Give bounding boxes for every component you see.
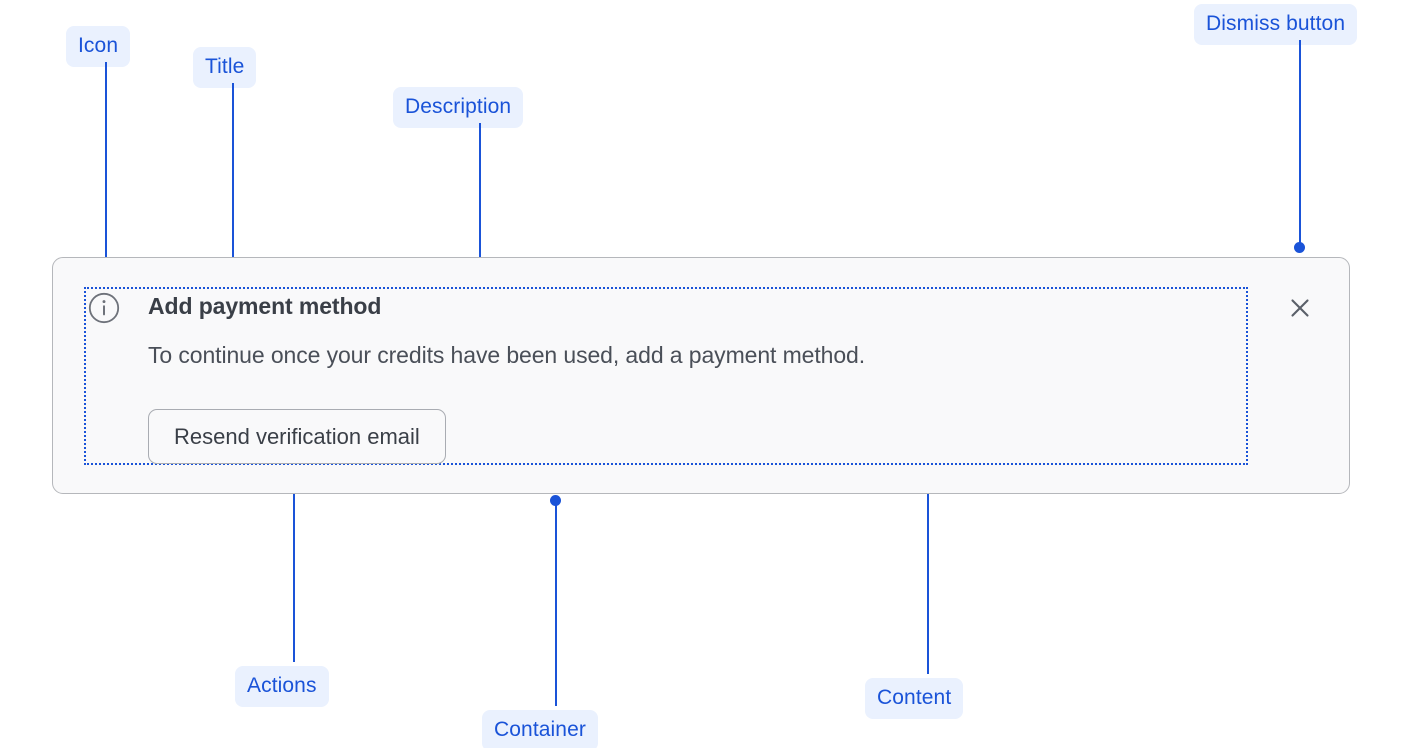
banner-description: To continue once your credits have been … bbox=[148, 342, 865, 369]
annotation-dot-container bbox=[550, 495, 561, 506]
annotation-label-description: Description bbox=[393, 87, 523, 128]
annotation-label-container: Container bbox=[482, 710, 598, 748]
annotation-label-title: Title bbox=[193, 47, 256, 88]
annotation-leader-icon bbox=[105, 62, 107, 271]
annotation-leader-dismiss bbox=[1299, 40, 1301, 248]
dismiss-button[interactable] bbox=[1281, 289, 1319, 327]
annotation-label-dismiss-button: Dismiss button bbox=[1194, 4, 1357, 45]
info-circle-icon bbox=[88, 292, 120, 324]
annotation-leader-content bbox=[927, 465, 929, 674]
annotation-label-icon: Icon bbox=[66, 26, 130, 67]
annotation-label-actions: Actions bbox=[235, 666, 329, 707]
annotation-stage: Icon Title Description Dismiss button Ac… bbox=[0, 0, 1408, 748]
annotation-dot-dismiss bbox=[1294, 242, 1305, 253]
banner-title: Add payment method bbox=[148, 293, 381, 320]
annotation-label-content: Content bbox=[865, 678, 963, 719]
resend-verification-email-button[interactable]: Resend verification email bbox=[148, 409, 446, 464]
annotation-leader-container bbox=[555, 500, 557, 706]
close-x-icon bbox=[1287, 295, 1313, 321]
